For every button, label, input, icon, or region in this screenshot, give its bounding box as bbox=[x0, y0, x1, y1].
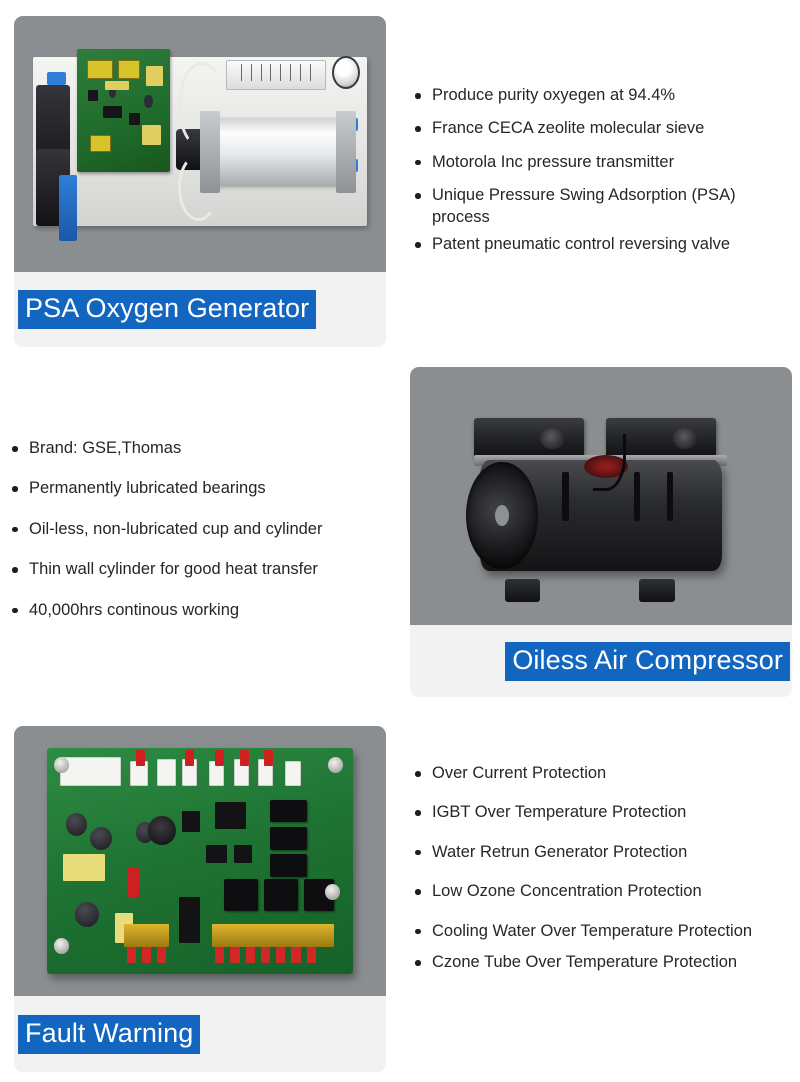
compressor-assembly bbox=[463, 403, 738, 594]
bullet-dot-icon bbox=[415, 810, 421, 816]
bullet-dot-icon bbox=[415, 160, 421, 166]
blue-filter-cartridge bbox=[59, 175, 78, 242]
bullet-dot-icon bbox=[415, 889, 421, 895]
list-item: Czone Tube Over Temperature Protection bbox=[411, 952, 791, 973]
caption-area-fault-warning: Fault Warning bbox=[14, 996, 386, 1072]
intake-port-left bbox=[540, 428, 564, 450]
transformer bbox=[63, 854, 106, 881]
bullet-dot-icon bbox=[415, 771, 421, 777]
bullet-dot-icon bbox=[415, 850, 421, 856]
fault-warning-control-board-photo bbox=[14, 726, 386, 996]
ic-chip bbox=[215, 802, 246, 829]
relay bbox=[270, 827, 307, 850]
buzzer bbox=[148, 816, 175, 845]
bullet-dot-icon bbox=[12, 567, 18, 573]
pressure-gauge bbox=[332, 56, 360, 89]
feature-list-fault-warning: Over Current Protection IGBT Over Temper… bbox=[411, 763, 791, 974]
cooling-fan bbox=[466, 462, 538, 569]
bullet-dot-icon bbox=[12, 608, 18, 614]
white-connector bbox=[157, 759, 175, 786]
caption-area-compressor: Oiless Air Compressor bbox=[410, 625, 792, 697]
list-item: IGBT Over Temperature Protection bbox=[411, 802, 791, 823]
bullet-dot-icon bbox=[415, 929, 421, 935]
red-terminal-pin bbox=[215, 947, 224, 963]
relay bbox=[270, 800, 307, 823]
section-title-fault-warning: Fault Warning bbox=[18, 1015, 200, 1054]
red-wire bbox=[215, 750, 224, 766]
air-fitting-left bbox=[47, 72, 66, 85]
section-title-oiless-air-compressor: Oiless Air Compressor bbox=[505, 642, 790, 681]
oiless-air-compressor-photo bbox=[410, 367, 792, 625]
feature-list-oiless-air-compressor: Brand: GSE,Thomas Permanently lubricated… bbox=[8, 438, 390, 621]
list-item: Thin wall cylinder for good heat transfe… bbox=[8, 559, 390, 580]
bullet-dot-icon bbox=[415, 960, 421, 966]
psa-oxygen-generator-photo bbox=[14, 16, 386, 272]
red-terminal-pin bbox=[142, 947, 151, 963]
intake-port-right bbox=[673, 428, 697, 450]
aluminium-cylinder bbox=[207, 118, 341, 185]
section-title-psa-oxygen-generator: PSA Oxygen Generator bbox=[18, 290, 316, 329]
red-terminal-pin bbox=[246, 947, 255, 963]
caption-area-psa: PSA Oxygen Generator bbox=[14, 272, 386, 347]
list-item: Brand: GSE,Thomas bbox=[8, 438, 390, 459]
white-connector bbox=[285, 761, 300, 786]
mounting-foot-left bbox=[505, 579, 541, 602]
bullet-dot-icon bbox=[415, 93, 421, 99]
product-card-fault-warning: Fault Warning bbox=[14, 726, 386, 1072]
infographic-page: PSA Oxygen Generator Produce purity oxye… bbox=[0, 0, 800, 1082]
pneumatic-tube-upper bbox=[178, 62, 226, 149]
list-item: Permanently lubricated bearings bbox=[8, 478, 390, 499]
vent-slot bbox=[667, 472, 673, 522]
cylinder-end-cap-right bbox=[336, 111, 356, 193]
pneumatic-tube-lower bbox=[178, 154, 219, 221]
list-item: France CECA zeolite molecular sieve bbox=[411, 118, 789, 139]
list-item: Motorola Inc pressure transmitter bbox=[411, 152, 789, 173]
relay bbox=[270, 854, 307, 877]
list-item: 40,000hrs continous working bbox=[8, 600, 390, 621]
terminal-block-left bbox=[124, 924, 170, 947]
mounting-screw bbox=[54, 938, 69, 954]
product-card-psa-oxygen-generator: PSA Oxygen Generator bbox=[14, 16, 386, 347]
red-terminal-pin bbox=[276, 947, 285, 963]
bullet-dot-icon bbox=[12, 527, 18, 533]
bullet-dot-icon bbox=[415, 126, 421, 132]
white-connector bbox=[60, 757, 121, 786]
red-terminal-pin bbox=[291, 947, 300, 963]
list-item: Over Current Protection bbox=[411, 763, 791, 784]
bullet-dot-icon bbox=[12, 486, 18, 492]
ic-chip bbox=[182, 811, 200, 831]
list-item: Patent pneumatic control reversing valve bbox=[411, 234, 789, 255]
fan-hub bbox=[495, 505, 509, 526]
bullet-dot-icon bbox=[415, 242, 421, 248]
power-module bbox=[264, 879, 298, 911]
list-item: Low Ozone Concentration Protection bbox=[411, 881, 791, 902]
control-pcb bbox=[47, 748, 352, 975]
terminal-block-right bbox=[212, 924, 334, 947]
list-item: Oil-less, non-lubricated cup and cylinde… bbox=[8, 519, 390, 540]
large-capacitor bbox=[179, 897, 200, 942]
list-item: Cooling Water Over Temperature Protectio… bbox=[411, 921, 791, 942]
vent-slot bbox=[562, 472, 568, 522]
list-item: Produce purity oxyegen at 94.4% bbox=[411, 85, 789, 106]
ic-chip bbox=[206, 845, 227, 863]
electrolytic-capacitor bbox=[66, 813, 87, 836]
red-terminal-pin bbox=[230, 947, 239, 963]
red-terminal-pin bbox=[307, 947, 316, 963]
ic-chip bbox=[234, 845, 252, 863]
red-wire bbox=[136, 750, 145, 766]
power-module bbox=[224, 879, 258, 911]
list-item: Unique Pressure Swing Adsorption (PSA) p… bbox=[411, 185, 789, 228]
red-terminal-pin bbox=[157, 947, 166, 963]
red-wire bbox=[185, 750, 194, 766]
mounting-screw bbox=[325, 884, 340, 900]
bullet-dot-icon bbox=[12, 446, 18, 452]
red-wire bbox=[264, 750, 273, 766]
red-terminal-pin bbox=[261, 947, 270, 963]
mounting-screw bbox=[54, 757, 69, 773]
list-item: Water Retrun Generator Protection bbox=[411, 842, 791, 863]
red-wire bbox=[240, 750, 249, 766]
controller-pcb bbox=[77, 49, 170, 172]
bullet-dot-icon bbox=[415, 193, 421, 199]
dip-switch bbox=[127, 868, 139, 897]
flow-meter bbox=[226, 60, 326, 91]
mounting-foot-right bbox=[639, 579, 675, 602]
electrolytic-capacitor bbox=[75, 902, 99, 927]
red-terminal-pin bbox=[127, 947, 136, 963]
mounting-screw bbox=[328, 757, 343, 773]
electrolytic-capacitor bbox=[90, 827, 111, 850]
feature-list-psa-oxygen-generator: Produce purity oxyegen at 94.4% France C… bbox=[411, 85, 789, 256]
vent-slot bbox=[634, 472, 640, 522]
product-card-oiless-air-compressor: Oiless Air Compressor bbox=[410, 367, 792, 697]
